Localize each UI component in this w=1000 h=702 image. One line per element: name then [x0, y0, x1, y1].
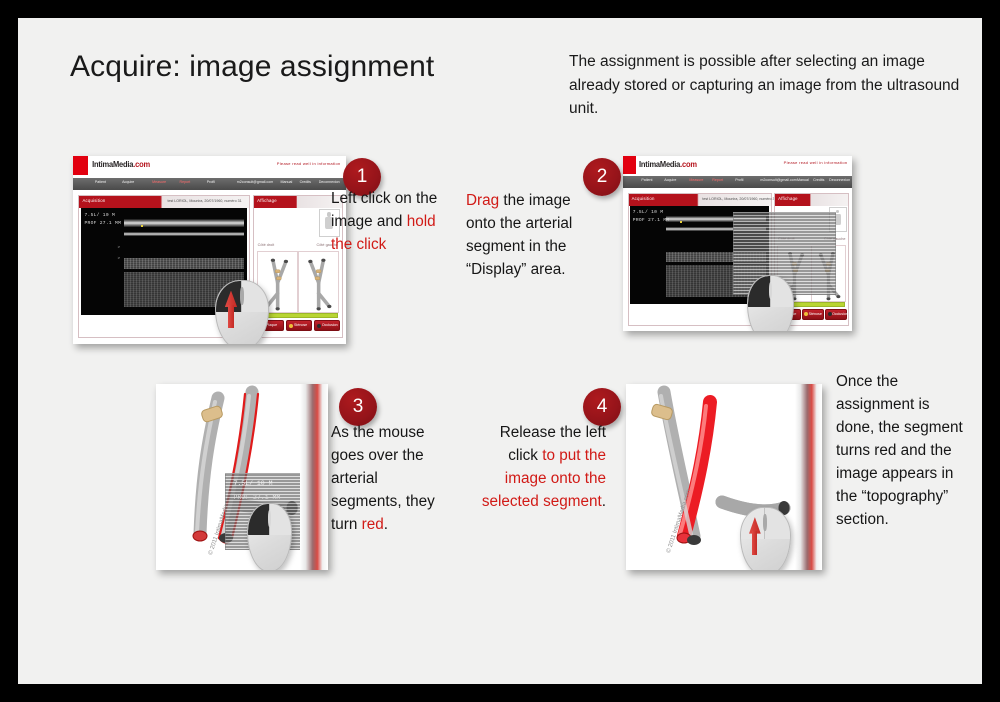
mouse-left-button-pressed-icon — [215, 280, 269, 344]
app-brand: IntimaMedia.com — [92, 159, 150, 169]
screenshot-step-2[interactable]: IntimaMedia.com Please read well in info… — [623, 156, 852, 331]
nav-item-measure[interactable]: Measure — [152, 180, 166, 184]
page-title: Acquire: image assignment — [70, 50, 434, 84]
window-top-right-note: Please read well in information — [784, 160, 848, 165]
step-badge-3: 3 — [339, 388, 377, 426]
intro-paragraph: The assignment is possible after selecti… — [569, 50, 969, 121]
ghost-depth-label: PROF 27.1 MM — [234, 494, 281, 501]
stenosis-icon — [289, 324, 293, 328]
app-navbar: Patient Acquire Measure Report Profil m2… — [623, 176, 852, 187]
mouse-release-arrow-icon — [740, 507, 791, 570]
window-red-accent — [73, 156, 88, 175]
closing-note: Once the assignment is done, the segment… — [836, 371, 971, 532]
mouse-hover-icon — [247, 503, 292, 570]
nav-item-patient[interactable]: Patient — [641, 178, 652, 182]
nav-item-credits[interactable]: Credits — [813, 178, 824, 182]
occlusion-icon — [828, 312, 832, 316]
nav-item-acquire[interactable]: Acquire — [664, 178, 676, 182]
mouse-left-button-pressed-icon — [747, 275, 795, 331]
side-label-right: Côté droit — [258, 243, 274, 247]
step-1-caption: Left click on the image and hold the cli… — [331, 188, 451, 257]
screenshot-step-3[interactable]: © 2011 IntimaMedia.com 7.5L/ 10 M PROF 2… — [156, 384, 328, 570]
ghost-probe-label: 7.5L/ 10 M — [234, 480, 273, 487]
mouse-wheel — [240, 287, 244, 305]
ultrasound-caliper-1: > — [118, 244, 120, 249]
mouse-release-up-arrow — [749, 517, 761, 554]
step-badge-4: 4 — [583, 388, 621, 426]
acquisition-patient-info: test LORIOL, Mounira, 20/07/1960, numéro… — [167, 199, 241, 203]
display-pane-header: Affichage — [254, 196, 341, 208]
nav-user-email: m2consult@gmail.com — [237, 180, 273, 184]
step-3-text-tail: . — [384, 516, 388, 533]
step-3-caption: As the mouse goes over the arterial segm… — [331, 422, 451, 537]
acquisition-pane-header: Acquisition test LORIOL, Mounira, 20/07/… — [79, 196, 248, 208]
progress-bar — [258, 313, 338, 318]
panel-right-edge-strip — [795, 384, 822, 570]
step-3-text-highlight: red — [362, 516, 384, 533]
nav-item-acquire[interactable]: Acquire — [122, 180, 134, 184]
nav-item-profil[interactable]: Profil — [735, 178, 743, 182]
acquisition-pane-header: Acquisition test LORIOL, Mounira, 20/07/… — [629, 194, 771, 206]
step-4-text-highlight: to put the image onto the selected segme… — [482, 447, 606, 510]
acquisition-patient-info: test LORIOL, Mounira, 20/07/1960, numéro… — [702, 197, 776, 201]
ultrasound-probe-label: 7.5L/ 10 M — [633, 210, 664, 215]
step-4-caption: Release the left click to put the image … — [473, 422, 606, 514]
ultrasound-depth-label: PROF 27.1 MM — [633, 218, 670, 223]
artery-zoom-svg-4 — [626, 384, 822, 570]
app-navbar: Patient Acquire Measure Report Profil m2… — [73, 178, 346, 190]
nav-item-manual[interactable]: Manual — [797, 178, 809, 182]
app-window-1: IntimaMedia.com Please read well in info… — [73, 156, 346, 344]
display-pane-header: Affichage — [775, 194, 848, 206]
nav-item-report[interactable]: Report — [712, 178, 723, 182]
nav-item-logout[interactable]: Deconnexion — [829, 178, 850, 182]
nav-item-measure[interactable]: Measure — [689, 178, 703, 182]
slide-frame: Acquire: image assignment The assignment… — [0, 0, 1000, 702]
ultrasound-probe-label: 7.5L/ 10 M — [84, 213, 115, 218]
mouse-wheel — [763, 514, 767, 531]
nav-item-manual[interactable]: Manual — [280, 180, 292, 184]
slide-canvas: Acquire: image assignment The assignment… — [18, 18, 982, 684]
step-2-caption: Drag the image onto the arterial segment… — [466, 190, 596, 282]
nav-item-patient[interactable]: Patient — [95, 180, 106, 184]
stenosis-icon — [804, 312, 808, 316]
mouse-press-arrow-icon — [225, 291, 237, 329]
step-4-text-tail: . — [602, 493, 606, 510]
display-pane-label: Affichage — [257, 198, 277, 203]
window-top-right-note: Please read well in information — [277, 161, 341, 166]
ultrasound-marker-dot — [141, 225, 143, 227]
nav-user-email: m2consult@gmail.com — [760, 178, 796, 182]
artery-tree-svg — [299, 252, 338, 311]
display-pane-label: Affichage — [778, 196, 798, 201]
ultrasound-depth-label: PROF 27.1 MM — [84, 221, 121, 226]
acquisition-pane-label: Acquisition — [82, 198, 105, 203]
occlusion-icon — [317, 324, 321, 328]
nav-item-report[interactable]: Report — [179, 180, 190, 184]
screenshot-step-4[interactable]: © 2011 IntimaMedia.com — [626, 384, 822, 570]
ultrasound-caliper-2: > — [118, 255, 120, 260]
panel-right-edge-strip — [300, 384, 328, 570]
artery-tree-left[interactable] — [298, 251, 339, 312]
ultrasound-marker-dot — [680, 221, 682, 223]
stenosis-button[interactable]: Sténose — [286, 320, 312, 331]
step-2-text-highlight: Drag — [466, 192, 499, 209]
app-brand: IntimaMedia.com — [639, 159, 697, 169]
nav-item-logout[interactable]: Deconnexion — [319, 180, 340, 184]
acquisition-pane-label: Acquisition — [632, 196, 655, 201]
window-red-accent — [623, 156, 636, 174]
occlusion-button[interactable]: Occlusion — [825, 309, 848, 320]
occlusion-button[interactable]: Occlusion — [314, 320, 340, 331]
nav-item-credits[interactable]: Credits — [300, 180, 311, 184]
stenosis-button[interactable]: Sténose — [802, 309, 825, 320]
nav-item-profil[interactable]: Profil — [207, 180, 215, 184]
screenshot-step-1[interactable]: IntimaMedia.com Please read well in info… — [73, 156, 346, 344]
